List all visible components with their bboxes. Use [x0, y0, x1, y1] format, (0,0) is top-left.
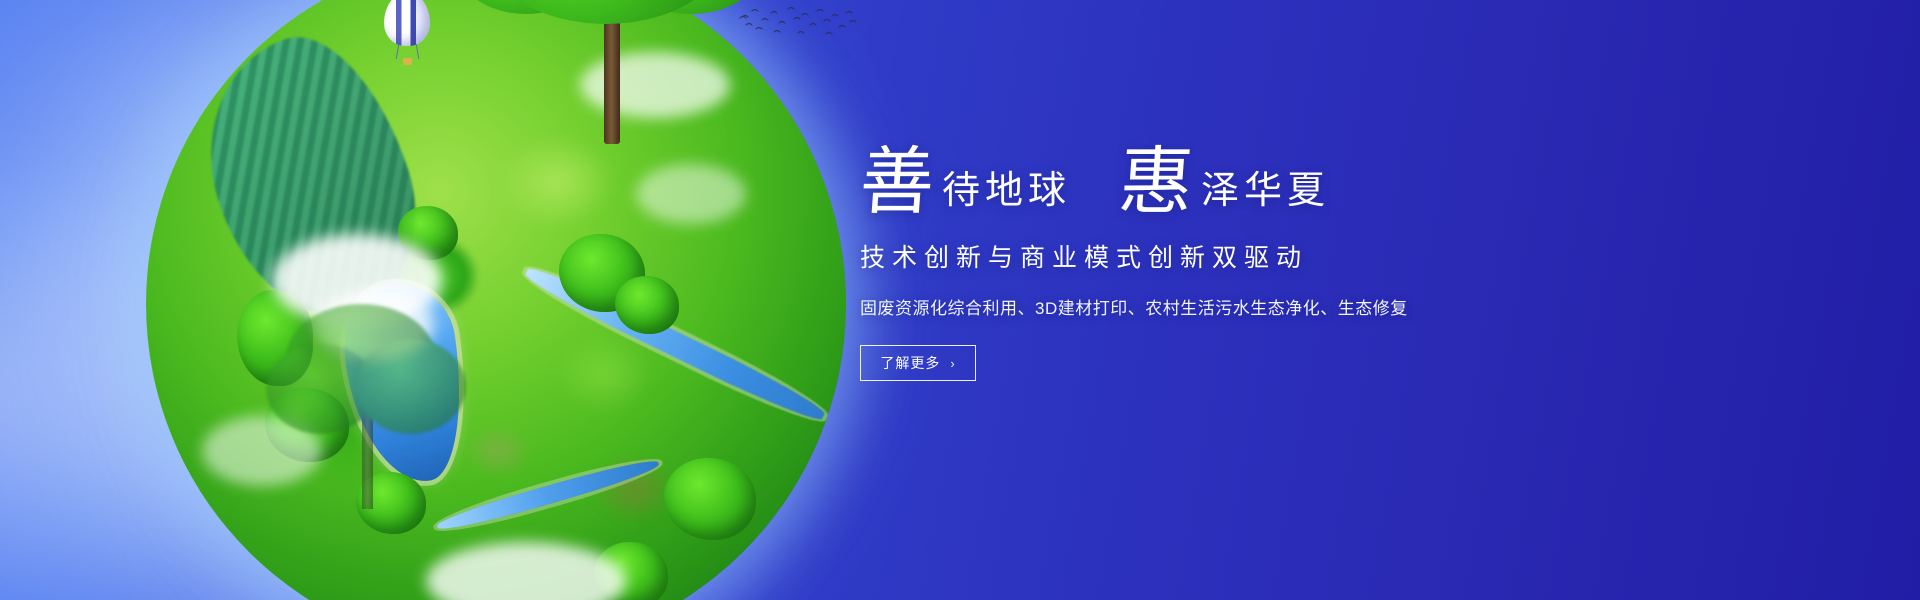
balloon-rigging — [416, 44, 420, 59]
cloud-icon — [426, 542, 626, 600]
headline-char-primary-1: 善 — [857, 146, 936, 220]
page-title: 善 待地球 惠 泽华夏 — [860, 128, 1480, 220]
banner-copy: 善 待地球 惠 泽华夏 技术创新与商业模式创新双驱动 固废资源化综合利用、3D建… — [860, 128, 1480, 381]
headline-phrase-1: 待地球 — [934, 163, 1071, 220]
balloon-envelope — [384, 0, 430, 46]
headline-char-primary-2: 惠 — [1116, 146, 1195, 220]
tree-cluster-icon — [664, 458, 756, 540]
hot-air-balloon-icon — [384, 0, 430, 66]
learn-more-label: 了解更多 — [880, 353, 940, 373]
balloon-basket — [403, 58, 412, 65]
subtitle: 技术创新与商业模式创新双驱动 — [860, 238, 1480, 274]
planet-illustration — [146, 0, 846, 600]
chevron-right-icon: › — [950, 357, 955, 370]
tree-cluster-icon — [615, 276, 679, 334]
hero-banner: 善 待地球 惠 泽华夏 技术创新与商业模式创新双驱动 固废资源化综合利用、3D建… — [0, 0, 1920, 600]
tree-icon — [266, 284, 476, 514]
tree-icon — [446, 0, 776, 144]
description-text: 固废资源化综合利用、3D建材打印、农村生活污水生态净化、生态修复 — [860, 294, 1480, 319]
bird-flock-icon — [738, 2, 858, 44]
cloud-icon — [636, 164, 746, 224]
headline-phrase-2: 泽华夏 — [1193, 163, 1330, 220]
balloon-rigging — [396, 44, 400, 59]
tree-canopy — [356, 339, 466, 434]
learn-more-button[interactable]: 了解更多 › — [860, 345, 976, 381]
